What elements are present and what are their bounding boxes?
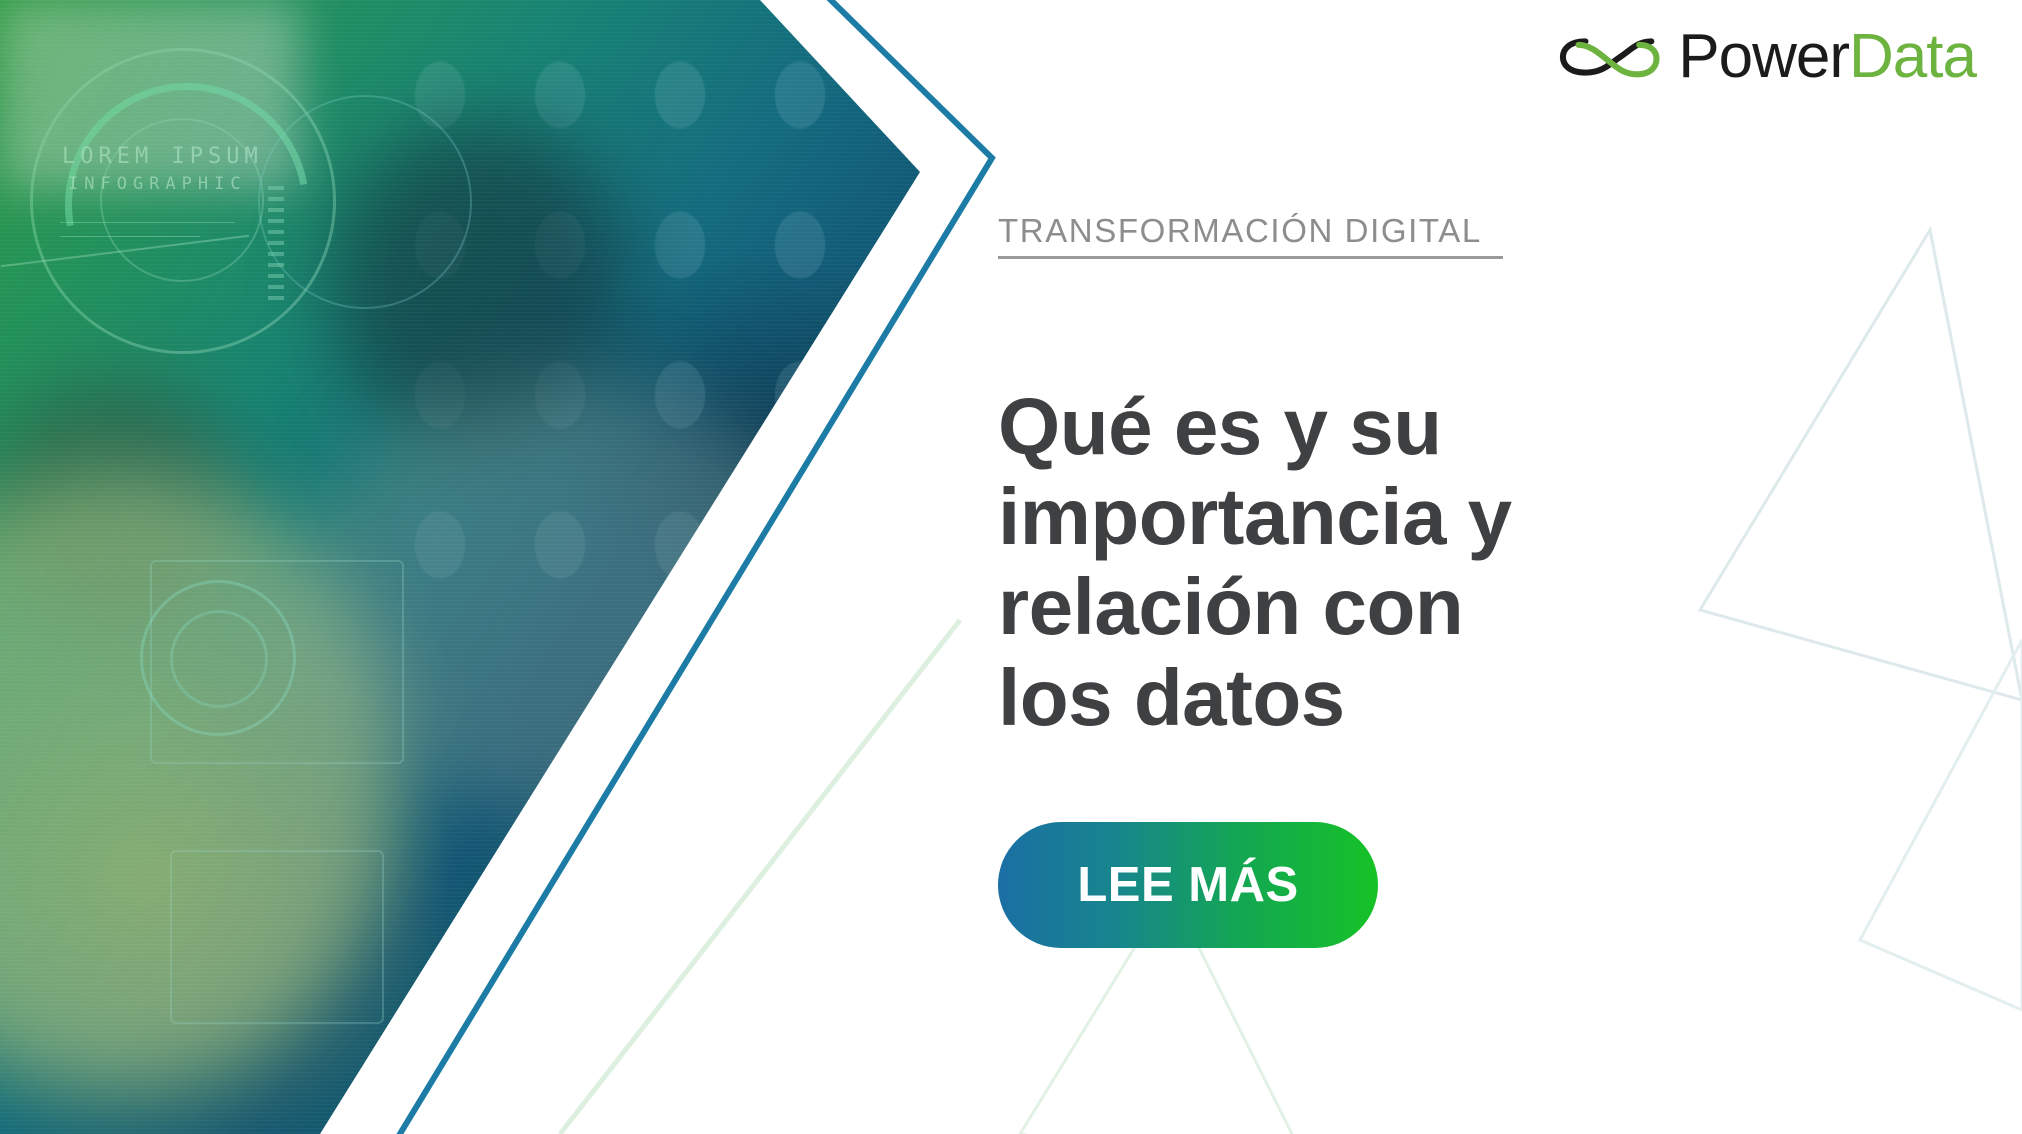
category-eyebrow: TRANSFORMACIÓN DIGITAL — [998, 212, 1482, 250]
logo-wordmark: PowerData — [1678, 26, 1976, 88]
photo-color-tint — [0, 0, 1000, 1134]
promo-banner: LOREM IPSUM INFOGRAPHIC PowerData TRANSF… — [0, 0, 2022, 1134]
diagonal-accent-line — [560, 620, 960, 1134]
logo-word-power: Power — [1678, 22, 1849, 91]
page-title: Qué es y su importancia y relación con l… — [998, 382, 1558, 744]
read-more-button[interactable]: LEE MÁS — [998, 822, 1378, 948]
logo-word-data: Data — [1849, 22, 1976, 91]
hero-photo: LOREM IPSUM INFOGRAPHIC — [0, 0, 1000, 1134]
content-column: PowerData TRANSFORMACIÓN DIGITAL Qué es … — [998, 0, 2022, 1134]
brand-logo[interactable]: PowerData — [1556, 26, 1976, 88]
eyebrow-underline — [998, 256, 1503, 259]
infinity-logo-icon — [1556, 28, 1660, 86]
